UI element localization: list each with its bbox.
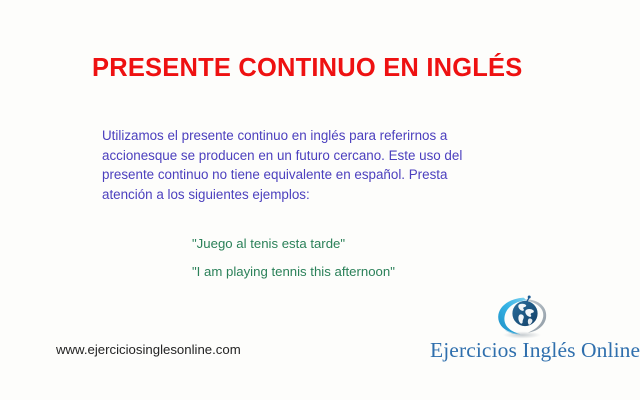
slide-canvas: PRESENTE CONTINUO EN INGLÉS Utilizamos e…: [0, 0, 640, 400]
brand-logo: Ejercicios Inglés Online: [430, 294, 626, 366]
website-url: www.ejerciciosinglesonline.com: [56, 342, 241, 358]
example-sentence-english: "I am playing tennis this afternoon": [192, 264, 395, 280]
example-sentence-spanish: "Juego al tenis esta tarde": [192, 236, 345, 252]
logo-wordmark: Ejercicios Inglés Online: [430, 338, 626, 363]
body-paragraph: Utilizamos el presente continuo en inglé…: [102, 126, 486, 204]
page-title: PRESENTE CONTINUO EN INGLÉS: [92, 53, 562, 83]
globe-swoosh-icon: [492, 294, 554, 340]
